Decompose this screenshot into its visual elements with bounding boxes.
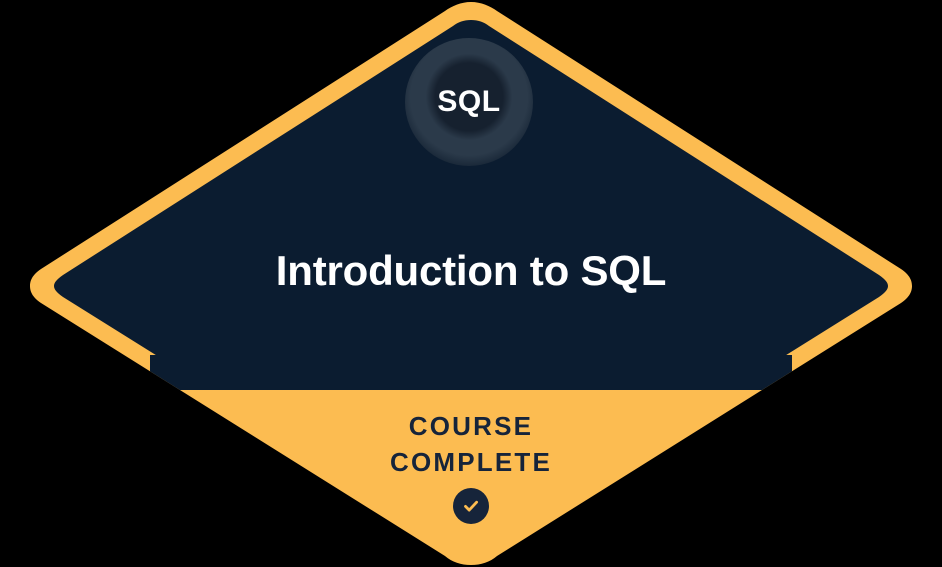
status-line-complete: COMPLETE (0, 444, 942, 480)
course-title: Introduction to SQL (0, 244, 942, 298)
course-complete-status: COURSE COMPLETE (0, 408, 942, 524)
status-line-course: COURSE (0, 408, 942, 444)
check-circle-icon (453, 488, 489, 524)
sql-logo-label: SQL (437, 87, 500, 117)
sql-logo-icon: SQL (405, 38, 533, 166)
certificate-badge-canvas: SQL Introduction to SQL COURSE COMPLETE (0, 0, 942, 567)
